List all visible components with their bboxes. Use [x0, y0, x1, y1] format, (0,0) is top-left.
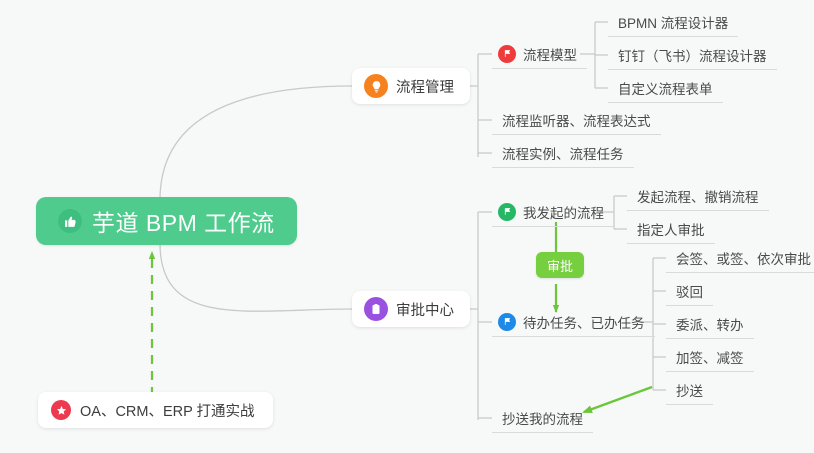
child-node-instance-task[interactable]: 流程实例、流程任务: [492, 138, 634, 168]
thumbs-up-icon: [58, 209, 82, 233]
leaf-node-add-remove-sign[interactable]: 加签、减签: [666, 342, 754, 372]
leaf-node-bpmn-designer[interactable]: BPMN 流程设计器: [608, 7, 738, 37]
flag-icon: [498, 203, 516, 221]
child-label: 流程实例、流程任务: [502, 143, 624, 163]
leaf-label: BPMN 流程设计器: [618, 12, 728, 32]
leaf-label: 自定义流程表单: [618, 78, 713, 98]
mindmap-canvas[interactable]: 芋道 BPM 工作流 流程管理 流程模型 BPMN 流程设计器 钉钉（飞书）流程…: [0, 0, 814, 453]
child-label: 抄送我的流程: [502, 408, 583, 428]
child-node-todo-done-tasks[interactable]: 待办任务、已办任务: [492, 307, 655, 337]
leaf-label: 驳回: [676, 281, 703, 301]
clipboard-icon: [364, 297, 388, 321]
child-label: 我发起的流程: [523, 202, 604, 222]
root-label: 芋道 BPM 工作流: [92, 204, 275, 238]
lightbulb-icon: [364, 74, 388, 98]
leaf-node-dingtalk-designer[interactable]: 钉钉（飞书）流程设计器: [608, 40, 777, 70]
leaf-node-cc[interactable]: 抄送: [666, 375, 713, 405]
child-node-listener-expression[interactable]: 流程监听器、流程表达式: [492, 105, 661, 135]
leaf-label: 钉钉（飞书）流程设计器: [618, 45, 767, 65]
flag-icon: [498, 45, 516, 63]
child-label: 待办任务、已办任务: [523, 312, 645, 332]
branch-node-process-management[interactable]: 流程管理: [352, 68, 470, 104]
leaf-node-reject[interactable]: 驳回: [666, 276, 713, 306]
callout-node-integration[interactable]: OA、CRM、ERP 打通实战: [38, 392, 273, 428]
approve-tag[interactable]: 审批: [536, 252, 584, 278]
leaf-node-assignee-approval[interactable]: 指定人审批: [627, 214, 715, 244]
star-icon: [51, 400, 71, 420]
approve-tag-label: 审批: [547, 256, 573, 275]
child-node-process-model[interactable]: 流程模型: [492, 39, 587, 69]
leaf-label: 抄送: [676, 380, 703, 400]
leaf-label: 加签、减签: [676, 347, 744, 367]
root-node[interactable]: 芋道 BPM 工作流: [36, 197, 297, 245]
child-label: 流程模型: [523, 44, 577, 64]
callout-label: OA、CRM、ERP 打通实战: [80, 400, 255, 421]
leaf-label: 发起流程、撤销流程: [637, 186, 759, 206]
child-node-cc-to-me[interactable]: 抄送我的流程: [492, 403, 593, 433]
leaf-label: 会签、或签、依次审批: [676, 248, 811, 268]
branch-label: 审批中心: [396, 299, 454, 320]
flag-icon: [498, 313, 516, 331]
leaf-node-start-cancel[interactable]: 发起流程、撤销流程: [627, 181, 769, 211]
leaf-node-delegate-transfer[interactable]: 委派、转办: [666, 309, 754, 339]
leaf-node-countersign[interactable]: 会签、或签、依次审批: [666, 243, 814, 273]
child-node-my-initiated[interactable]: 我发起的流程: [492, 197, 614, 227]
branch-label: 流程管理: [396, 76, 454, 97]
branch-node-approval-center[interactable]: 审批中心: [352, 291, 470, 327]
leaf-label: 委派、转办: [676, 314, 744, 334]
leaf-label: 指定人审批: [637, 219, 705, 239]
leaf-node-custom-form[interactable]: 自定义流程表单: [608, 73, 723, 103]
child-label: 流程监听器、流程表达式: [502, 110, 651, 130]
